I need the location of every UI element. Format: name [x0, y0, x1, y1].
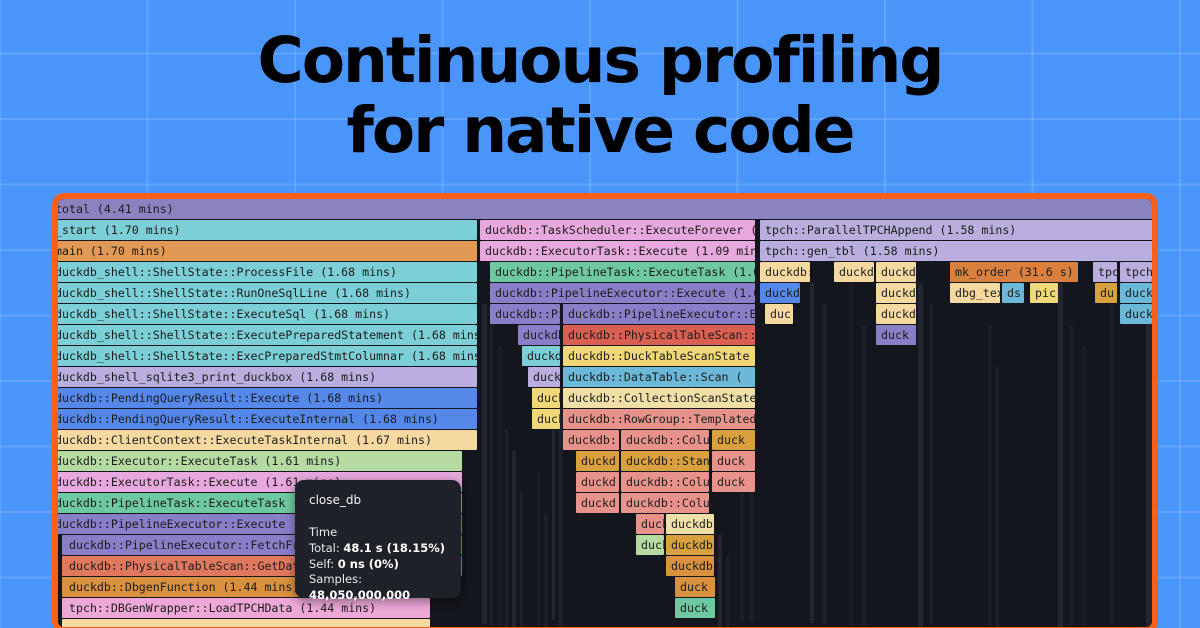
- flamegraph-frame[interactable]: duckdb::PhysicalTableScan::GetData: [563, 325, 755, 345]
- flamegraph-frame[interactable]: duckdb::CollectionScanState: [563, 388, 755, 408]
- flamegraph-frame[interactable]: duckdb_shell::ShellState::ExecutePrepare…: [58, 325, 477, 345]
- flamegraph-frame[interactable]: duck: [1120, 304, 1152, 324]
- flamegraph-frame[interactable]: duck: [532, 409, 560, 429]
- tooltip-samples-value: 48,050,000,000: [309, 588, 410, 602]
- flamegraph-frame[interactable]: mk_order (31.6 s): [950, 262, 1078, 282]
- tooltip-section-time: Time: [309, 525, 447, 541]
- flamegraph-frame[interactable]: duckd: [576, 472, 619, 492]
- flamegraph-frame[interactable]: duckdb::DataTable::Scan (: [563, 367, 755, 387]
- tooltip-samples-row: Samples: 48,050,000,000: [309, 572, 447, 603]
- flamegraph-noise-column: [1082, 346, 1086, 626]
- tooltip-frame-name: close_db: [309, 493, 447, 509]
- flamegraph-frame[interactable]: duckdb::PipelineTask::ExecuteTask (1.09 …: [490, 262, 755, 282]
- flamegraph-noise-column: [498, 346, 502, 626]
- flamegraph-frame[interactable]: duckdb::RowGroup::TemplatedScan: [563, 409, 755, 429]
- flamegraph-noise-column: [988, 325, 992, 625]
- flamegraph-noise-column: [862, 325, 866, 625]
- flamegraph-frame[interactable]: duckdb::PipelineExecutor::ExecutePushInt…: [563, 304, 755, 324]
- flamegraph-frame[interactable]: duck: [712, 451, 755, 471]
- flamegraph-frame[interactable]: duckdb::PipelineExecutor::Execute (1.08 …: [490, 283, 755, 303]
- flamegraph-frame[interactable]: duc: [765, 304, 793, 324]
- flamegraph-noise-column: [726, 556, 729, 627]
- flamegraph-noise-column: [544, 514, 548, 627]
- flamegraph-frame[interactable]: duck: [712, 430, 755, 450]
- flamegraph-frame[interactable]: duckdb::ClientContext::ExecuteTaskIntern…: [58, 430, 477, 450]
- flamegraph-frame[interactable]: duck: [1120, 283, 1152, 303]
- flamegraph-frame[interactable]: dbg_tex: [950, 283, 1000, 303]
- flamegraph-frame[interactable]: duckd: [576, 451, 619, 471]
- flamegraph-frame[interactable]: duckdb::Stan: [621, 451, 709, 471]
- flamegraph-frame[interactable]: duckdb::Pi: [490, 304, 560, 324]
- flamegraph-frame[interactable]: duckdb::PendingQueryResult::ExecuteInter…: [58, 409, 477, 429]
- flamegraph-frame[interactable]: duckd: [576, 493, 619, 513]
- flamegraph-frame[interactable]: duckdb_shell::ShellState::ExecPreparedSt…: [58, 346, 477, 366]
- flamegraph-frame[interactable]: tpc: [1093, 262, 1117, 282]
- flamegraph-frame[interactable]: duckdb:: [563, 430, 619, 450]
- flamegraph-frame[interactable]: duck: [712, 472, 755, 492]
- flamegraph-frame[interactable]: duckdb: [666, 556, 714, 576]
- flamegraph-frame[interactable]: duck: [876, 325, 916, 345]
- flamegraph-noise-column: [537, 472, 540, 627]
- flamegraph-frame[interactable]: duckdb_shell::ShellState::ProcessFile (1…: [58, 262, 477, 282]
- headline-line-1: Continuous profiling: [258, 24, 943, 97]
- flamegraph-frame[interactable]: duckdb::Colu: [621, 430, 709, 450]
- flamegraph-frame[interactable]: duckdb_shell::ShellState::ExecuteSql (1.…: [58, 304, 477, 324]
- flamegraph-frame[interactable]: duckdb_shell::ShellState::RunOneSqlLine …: [58, 283, 477, 303]
- flamegraph-frame[interactable]: total (4.41 mins): [58, 199, 1152, 219]
- flamegraph-noise-column: [505, 430, 508, 627]
- flamegraph-frame[interactable]: duckdb: [666, 535, 714, 555]
- tooltip-self-value: 0 ns (0%): [338, 557, 399, 571]
- flamegraph-noise-column: [490, 325, 493, 625]
- flamegraph-canvas[interactable]: total (4.41 mins)_start (1.70 mins)main …: [58, 199, 1152, 627]
- flamegraph-frame[interactable]: duckd: [528, 367, 560, 387]
- flamegraph-noise-column: [822, 304, 827, 624]
- flamegraph-frame[interactable]: duckd: [876, 304, 916, 324]
- flamegraph-frame[interactable]: duck: [636, 535, 664, 555]
- flamegraph-noise-column: [520, 493, 523, 627]
- flamegraph-panel[interactable]: total (4.41 mins)_start (1.70 mins)main …: [52, 193, 1158, 628]
- flamegraph-viewport[interactable]: total (4.41 mins)_start (1.70 mins)main …: [58, 199, 1152, 627]
- flamegraph-frame[interactable]: duckdb_shell_sqlite3_print_duckbox (1.68…: [58, 367, 477, 387]
- flamegraph-frame[interactable]: duckdb::TaskScheduler::ExecuteForever (1…: [480, 220, 755, 240]
- flamegraph-frame[interactable]: ds:: [1002, 283, 1024, 303]
- flamegraph-noise-column: [740, 493, 744, 623]
- flamegraph-noise-column: [482, 304, 487, 624]
- flamegraph-frame[interactable]: duckd: [834, 262, 874, 282]
- flamegraph-noise-column: [512, 451, 516, 627]
- flamegraph-frame[interactable]: duckdb:: [518, 325, 560, 345]
- flamegraph-noise-column: [918, 283, 923, 627]
- flamegraph-frame[interactable]: pic: [1030, 283, 1058, 303]
- flamegraph-noise-column: [1058, 283, 1063, 627]
- tooltip-self-row: Self: 0 ns (0%): [309, 557, 447, 573]
- page-title: Continuous profiling for native code: [0, 26, 1200, 166]
- headline-line-2: for native code: [0, 96, 1200, 166]
- flamegraph-frame[interactable]: duckdb::Colu: [621, 472, 709, 492]
- flamegraph-frame[interactable]: duckdb::ExecutorTask::Execute (1.09 mins…: [480, 241, 755, 261]
- flamegraph-frame[interactable]: duck: [532, 388, 560, 408]
- frame-tooltip: close_db Time Total: 48.1 s (18.15%) Sel…: [295, 480, 461, 598]
- flamegraph-frame[interactable]: tpch::gen_tbl (1.58 mins): [760, 241, 1152, 261]
- flamegraph-frame[interactable]: tpch: [1120, 262, 1152, 282]
- flamegraph-frame[interactable]: duckdb::Executor::ExecuteTask (1.61 mins…: [58, 451, 462, 471]
- flamegraph-noise-column: [850, 283, 853, 627]
- flamegraph-frame[interactable]: duck: [636, 514, 664, 534]
- flamegraph-frame[interactable]: main (1.70 mins): [58, 241, 477, 261]
- flamegraph-frame[interactable]: duckd: [876, 262, 916, 282]
- flamegraph-frame[interactable]: _start (1.70 mins): [58, 220, 477, 240]
- flamegraph-frame[interactable]: duckdb::DuckTableScanState: [563, 346, 755, 366]
- flamegraph-noise-column: [930, 304, 933, 624]
- flamegraph-frame[interactable]: duckdb: [522, 346, 560, 366]
- flamegraph-frame[interactable]: duckdb::Colu: [621, 493, 709, 513]
- flamegraph-noise-column: [810, 283, 814, 623]
- flamegraph-frame[interactable]: duck: [675, 577, 715, 597]
- tooltip-total-label: Total:: [309, 541, 340, 555]
- tooltip-total-value: 48.1 s (18.15%): [343, 541, 445, 555]
- tooltip-samples-label: Samples:: [309, 572, 362, 586]
- flamegraph-frame[interactable]: du: [1095, 283, 1117, 303]
- flamegraph-frame[interactable]: duckdb::: [760, 262, 810, 282]
- flamegraph-frame[interactable]: duck: [675, 598, 715, 618]
- flamegraph-frame[interactable]: duckdb::PendingQueryResult::Execute (1.6…: [58, 388, 477, 408]
- flamegraph-noise-column: [996, 367, 999, 627]
- flamegraph-noise-column: [1110, 304, 1113, 624]
- flamegraph-noise-column: [552, 430, 555, 620]
- flamegraph-frame[interactable]: [62, 619, 430, 627]
- tooltip-total-row: Total: 48.1 s (18.15%): [309, 541, 447, 557]
- flamegraph-noise-column: [718, 535, 722, 627]
- flamegraph-frame[interactable]: duckd: [760, 283, 800, 303]
- flamegraph-frame[interactable]: duckdb:: [666, 514, 714, 534]
- flamegraph-noise-column: [1070, 325, 1073, 625]
- tooltip-self-label: Self:: [309, 557, 334, 571]
- flamegraph-frame[interactable]: duckd: [876, 283, 916, 303]
- flamegraph-frame[interactable]: tpch::ParallelTPCHAppend (1.58 mins): [760, 220, 1152, 240]
